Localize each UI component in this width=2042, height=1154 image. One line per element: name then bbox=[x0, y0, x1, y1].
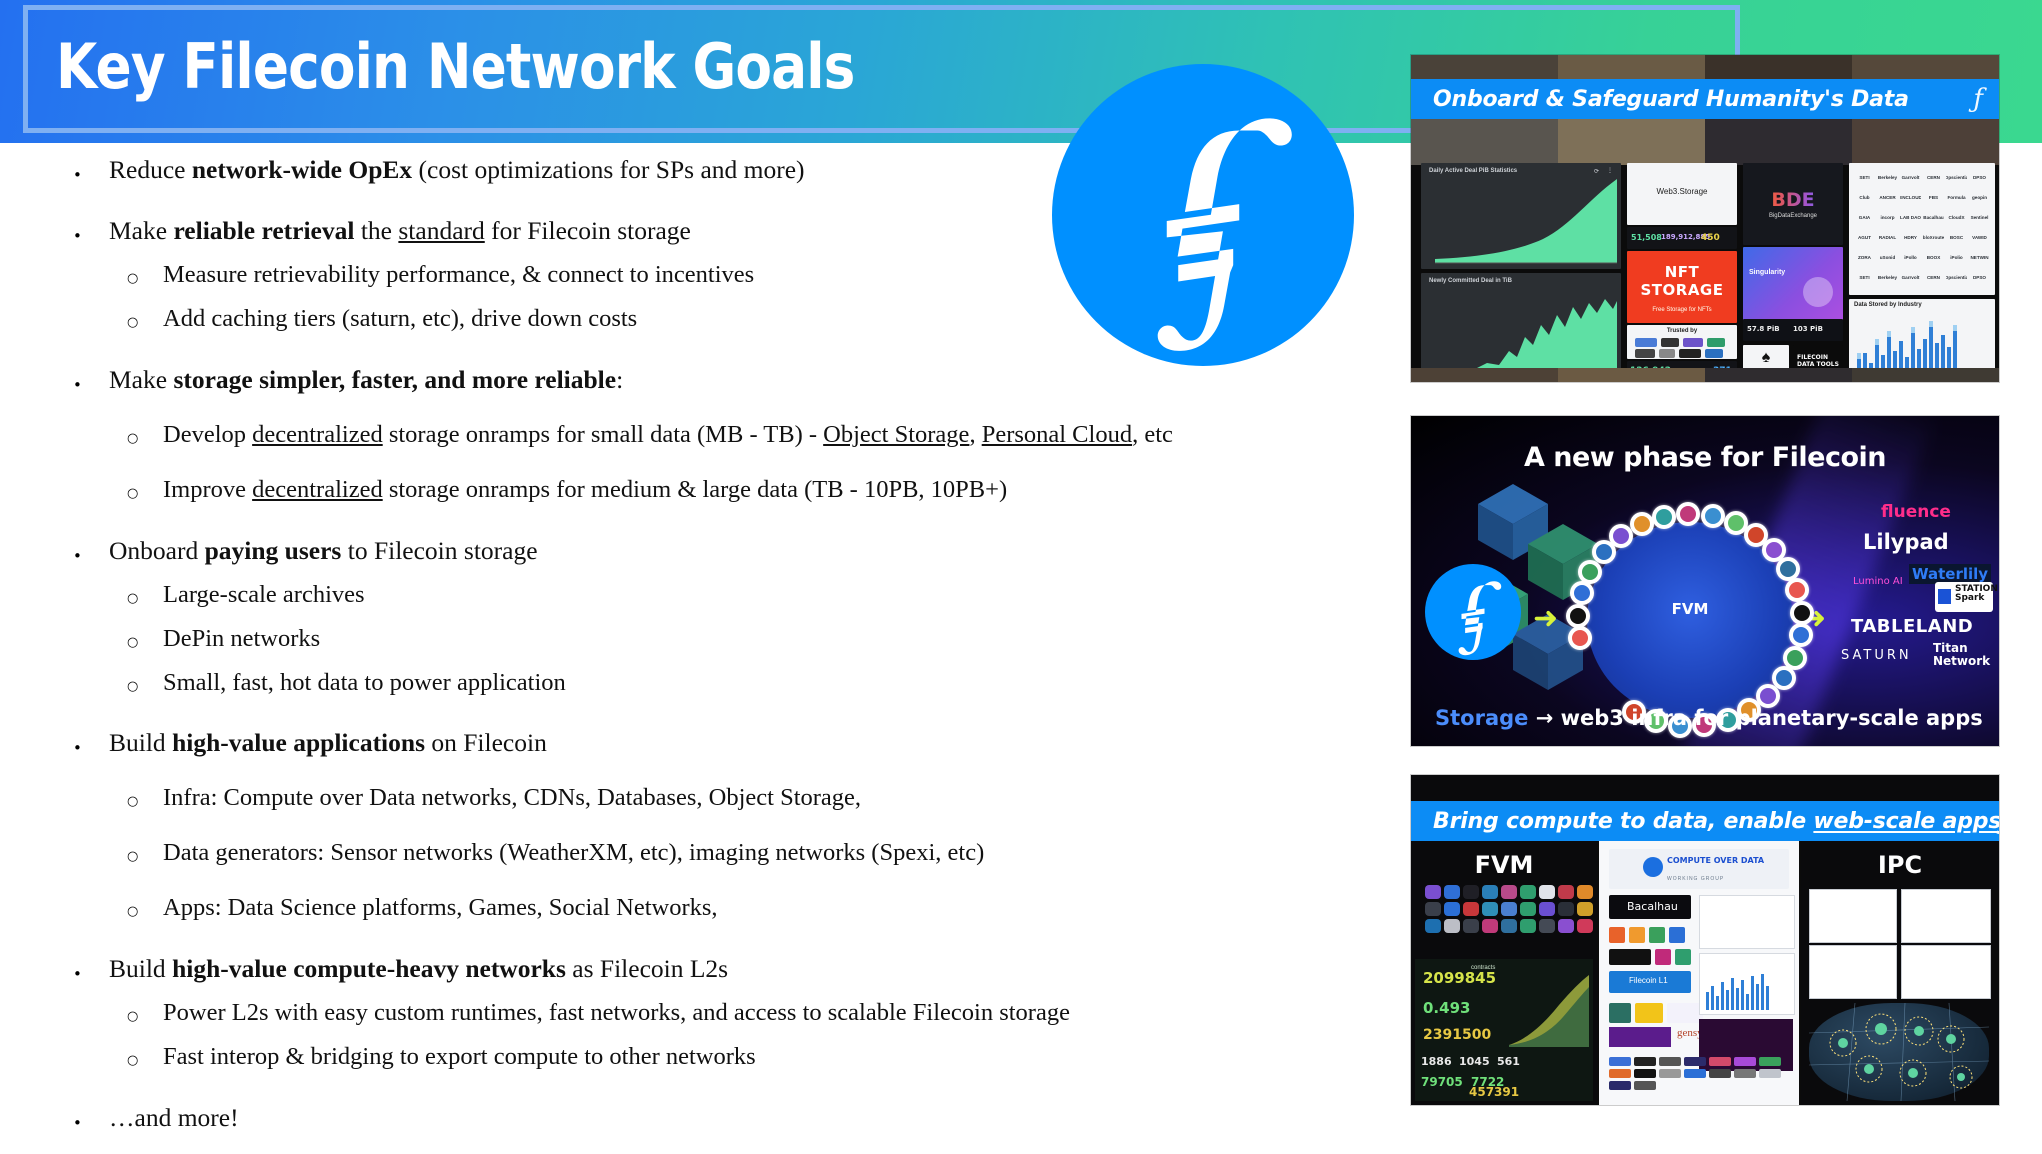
app-icon bbox=[1558, 885, 1574, 899]
spacer bbox=[0, 407, 1400, 418]
tile-label: NFT STORAGE bbox=[1627, 263, 1737, 299]
compute-column-fvm: FVM 2099845 0.493 2391500 1886 1045 561 … bbox=[1411, 841, 1597, 1105]
bullet-marker-filled-icon: • bbox=[73, 725, 109, 756]
app-icon bbox=[1463, 919, 1479, 933]
partner-logo: FBS bbox=[1923, 188, 1944, 206]
bullet-marker-filled-icon: • bbox=[73, 1100, 109, 1131]
cod-bar-chart bbox=[1699, 953, 1795, 1015]
page-title: Key Filecoin Network Goals bbox=[56, 30, 855, 103]
ipc-slide bbox=[1901, 945, 1991, 999]
logo-waterlily: Waterlily bbox=[1909, 564, 1991, 584]
bullet-item-l1: •Make storage simpler, faster, and more … bbox=[0, 362, 1400, 398]
ipc-slide bbox=[1809, 889, 1897, 943]
app-icon bbox=[1558, 919, 1574, 933]
tile-sublabel: BigDataExchange bbox=[1743, 213, 1843, 219]
bullet-marker-hollow-icon: ○ bbox=[127, 473, 163, 500]
kpi-value: 450 bbox=[1701, 233, 1720, 243]
stat-value: 79705 bbox=[1421, 1075, 1463, 1089]
l3-chips bbox=[1609, 949, 1691, 965]
bullet-marker-hollow-icon: ○ bbox=[127, 836, 163, 863]
logo-lumino-ai: Lumino AI bbox=[1853, 576, 1903, 587]
spacer bbox=[0, 770, 1400, 781]
bullet-item-l1: •Build high-value compute-heavy networks… bbox=[0, 951, 1400, 987]
ecosystem-node-icon bbox=[1566, 604, 1590, 628]
partner-logo: SETI bbox=[1854, 268, 1875, 286]
bullet-text: Large-scale archives bbox=[163, 578, 365, 613]
logo-row bbox=[1635, 349, 1723, 358]
logo-bacalhau: Bacalhau bbox=[1609, 895, 1691, 919]
compute-banner-text: Bring compute to data, enable web-scale … bbox=[1433, 809, 1999, 834]
bullet-item-l2: ○Add caching tiers (saturn, etc), drive … bbox=[0, 302, 1400, 337]
bullet-marker-hollow-icon: ○ bbox=[127, 996, 163, 1023]
spacer bbox=[0, 1084, 1400, 1100]
partner-logo: RADIAL bbox=[1877, 228, 1898, 246]
footer-lead: Storage bbox=[1435, 706, 1528, 730]
partner-logo: SETI bbox=[1854, 168, 1875, 186]
app-icon bbox=[1577, 885, 1593, 899]
tile-label: BDE bbox=[1743, 189, 1843, 211]
partner-logo: DPSO bbox=[1969, 168, 1990, 186]
spacer bbox=[0, 880, 1400, 891]
bullet-text: Reduce network-wide OpEx (cost optimizat… bbox=[109, 152, 805, 188]
partner-logo: geopin bbox=[1969, 188, 1990, 206]
ecosystem-node-icon bbox=[1568, 626, 1592, 650]
bullet-text: Onboard paying users to Filecoin storage bbox=[109, 533, 538, 569]
fvm-heading: FVM bbox=[1411, 851, 1597, 879]
photo-strip-bottom bbox=[1411, 368, 1999, 382]
bullet-text: Apps: Data Science platforms, Games, Soc… bbox=[163, 891, 718, 926]
partner-logo: BOOX bbox=[1923, 248, 1944, 266]
app-icon bbox=[1482, 902, 1498, 916]
partner-logo: uSonid bbox=[1877, 248, 1898, 266]
stat-value: 2099845 bbox=[1423, 969, 1496, 987]
app-icon bbox=[1501, 885, 1517, 899]
ecosystem-node-icon bbox=[1630, 512, 1654, 536]
app-icon bbox=[1539, 902, 1555, 916]
panel-bring-compute-to-data: Bring compute to data, enable web-scale … bbox=[1411, 775, 1999, 1105]
partner-logo: CERN bbox=[1923, 168, 1944, 186]
ipc-slide bbox=[1809, 945, 1897, 999]
partner-logo: Sentinel bbox=[1969, 208, 1990, 226]
tile-nft-storage: NFT STORAGE Free Storage for NFTs bbox=[1627, 251, 1737, 323]
cod-logo-box: COMPUTE OVER DATA WORKING GROUP bbox=[1609, 849, 1789, 889]
bullet-marker-hollow-icon: ○ bbox=[127, 258, 163, 285]
spacer bbox=[0, 825, 1400, 836]
app-icon bbox=[1520, 902, 1536, 916]
partner-logo-row bbox=[1609, 1057, 1789, 1090]
bullet-text: Power L2s with easy custom runtimes, fas… bbox=[163, 996, 1070, 1031]
tile-label: Trusted by bbox=[1627, 328, 1737, 334]
spacer bbox=[0, 935, 1400, 951]
compute-banner: Bring compute to data, enable web-scale … bbox=[1411, 801, 1999, 841]
bullet-marker-hollow-icon: ○ bbox=[127, 622, 163, 649]
bullet-text: DePin networks bbox=[163, 622, 320, 657]
app-icon bbox=[1425, 902, 1441, 916]
newphase-footer: Storage → web3 infra for planetary-scale… bbox=[1435, 706, 1983, 730]
app-icon bbox=[1520, 919, 1536, 933]
logo-lilypad: Lilypad bbox=[1863, 530, 1949, 554]
partner-logo: VAWID bbox=[1969, 228, 1990, 246]
tile-label: Web3.Storage bbox=[1627, 187, 1737, 196]
fvm-area-chart bbox=[1507, 967, 1591, 1049]
l2-chips bbox=[1609, 927, 1685, 943]
ipc-slide bbox=[1901, 889, 1991, 943]
bullet-text: Infra: Compute over Data networks, CDNs,… bbox=[163, 781, 861, 816]
partner-logo: Berkeley bbox=[1877, 168, 1898, 186]
partner-logo: bloXroute bbox=[1923, 228, 1944, 246]
bullet-text: Fast interop & bridging to export comput… bbox=[163, 1040, 756, 1075]
onboard-banner-text: Onboard & Safeguard Humanity's Data bbox=[1433, 87, 1909, 112]
logo-tableland: TABLELAND bbox=[1851, 616, 1973, 637]
tile-web3-storage: Web3.Storage bbox=[1627, 163, 1737, 225]
app-icon bbox=[1482, 919, 1498, 933]
bullet-item-l2: ○Power L2s with easy custom runtimes, fa… bbox=[0, 996, 1400, 1031]
bullet-text: …and more! bbox=[109, 1100, 239, 1136]
bullet-text: Develop decentralized storage onramps fo… bbox=[163, 418, 1173, 453]
app-icon bbox=[1577, 919, 1593, 933]
bullet-marker-hollow-icon: ○ bbox=[127, 578, 163, 605]
bullet-item-l2: ○DePin networks bbox=[0, 622, 1400, 657]
bullet-marker-hollow-icon: ○ bbox=[127, 302, 163, 329]
fvm-app-grid bbox=[1425, 885, 1593, 933]
bullet-marker-hollow-icon: ○ bbox=[127, 418, 163, 445]
bullet-text: Improve decentralized storage onramps fo… bbox=[163, 473, 1007, 508]
partner-logo: CloudX bbox=[1946, 208, 1967, 226]
tile-newly-committed-deal: Newly Committed Deal in TiB bbox=[1421, 273, 1621, 379]
bullet-marker-hollow-icon: ○ bbox=[127, 666, 163, 693]
partner-logo: iPollo bbox=[1900, 248, 1921, 266]
tile-singularity-kpis: 57.8 PiB 103 PiB bbox=[1743, 319, 1843, 341]
bullet-item-l1: •…and more! bbox=[0, 1100, 1400, 1136]
spacer bbox=[0, 517, 1400, 533]
bullet-item-l2: ○Large-scale archives bbox=[0, 578, 1400, 613]
bullet-text: Small, fast, hot data to power applicati… bbox=[163, 666, 566, 701]
arrow-right-icon: ➜ bbox=[1533, 604, 1558, 634]
bullet-item-l1: •Make reliable retrieval the standard fo… bbox=[0, 213, 1400, 249]
stat-value: 1886 bbox=[1421, 1055, 1452, 1068]
footer-rest: → web3 infra for planetary-scale apps bbox=[1536, 706, 1983, 730]
bullet-marker-filled-icon: • bbox=[73, 152, 109, 183]
ipc-subnet-globe bbox=[1809, 1003, 1989, 1101]
spacer bbox=[0, 709, 1400, 725]
tile-label: FILECOIN DATA TOOLS bbox=[1797, 355, 1843, 369]
app-icon bbox=[1539, 885, 1555, 899]
bullet-text: Build high-value compute-heavy networks … bbox=[109, 951, 728, 987]
app-icon bbox=[1501, 919, 1517, 933]
partner-logo: DPSO bbox=[1969, 268, 1990, 286]
partner-logo: GAIA bbox=[1854, 208, 1875, 226]
partner-logo: ZORA bbox=[1854, 248, 1875, 266]
partner-logo: CERN bbox=[1923, 268, 1944, 286]
cod-heading: COMPUTE OVER DATA bbox=[1667, 857, 1764, 866]
partner-logo: AGUT bbox=[1854, 228, 1875, 246]
photo-strip-mid bbox=[1411, 119, 1999, 165]
tile-nft-trusted-by: Trusted by bbox=[1627, 325, 1737, 359]
bullet-item-l2: ○Improve decentralized storage onramps f… bbox=[0, 473, 1400, 508]
photo-strip-top bbox=[1411, 55, 1999, 79]
bullet-text: Add caching tiers (saturn, etc), drive d… bbox=[163, 302, 637, 337]
kpi-value: 57.8 PiB bbox=[1747, 325, 1780, 333]
ecosystem-node-icon bbox=[1570, 581, 1594, 605]
bullet-list: •Reduce network-wide OpEx (cost optimiza… bbox=[0, 152, 1400, 1145]
ecosystem-node-icon bbox=[1790, 601, 1814, 625]
app-icon bbox=[1558, 902, 1574, 916]
logo-row-2ama bbox=[1609, 1003, 1703, 1023]
app-icon bbox=[1539, 919, 1555, 933]
partner-logo: BOSC bbox=[1946, 228, 1967, 246]
subnet-graph bbox=[1809, 1003, 1989, 1101]
partner-logo: Berkeley bbox=[1877, 268, 1898, 286]
tile-daily-active-deal: Daily Active Deal PiB Statistics ⟳ ⋮ bbox=[1421, 163, 1621, 269]
partner-logo: Opscientia bbox=[1946, 168, 1967, 186]
tile-label: Data Stored by Industry bbox=[1854, 302, 1922, 308]
bullet-marker-filled-icon: • bbox=[73, 213, 109, 244]
partner-logo: Garrvolt bbox=[1900, 268, 1921, 286]
bullet-item-l2: ○Fast interop & bridging to export compu… bbox=[0, 1040, 1400, 1075]
filecoin-glyph-icon: ƒ bbox=[1973, 86, 1983, 112]
sparkline-chart bbox=[1421, 273, 1621, 379]
partner-logo: NETWIN bbox=[1969, 248, 1990, 266]
bullet-text: Measure retrievability performance, & co… bbox=[163, 258, 754, 293]
partner-logo: Bacalhau bbox=[1923, 208, 1944, 226]
logo-expanso bbox=[1609, 1027, 1671, 1047]
app-icon bbox=[1501, 902, 1517, 916]
partner-logo: Garrvolt bbox=[1900, 168, 1921, 186]
bullet-item-l1: •Onboard paying users to Filecoin storag… bbox=[0, 533, 1400, 569]
logo-filecoin-l1: Filecoin L1 bbox=[1609, 971, 1691, 993]
bullet-item-l1: •Reduce network-wide OpEx (cost optimiza… bbox=[0, 152, 1400, 188]
tile-web3-kpis: 51,508 189,912,885 450 bbox=[1627, 227, 1737, 249]
app-icon bbox=[1577, 902, 1593, 916]
stat-value: 561 bbox=[1497, 1055, 1520, 1068]
app-icon bbox=[1463, 885, 1479, 899]
app-icon bbox=[1482, 885, 1498, 899]
tile-label: Singularity bbox=[1749, 269, 1785, 276]
partner-logo: Opscientia bbox=[1946, 268, 1967, 286]
logo-fluence: fluence bbox=[1881, 502, 1951, 522]
partner-logo-grid: SETIBerkeleyGarrvoltCERNOpscientiaDPSOCl… bbox=[1854, 168, 1990, 290]
bullet-text: Data generators: Sensor networks (Weathe… bbox=[163, 836, 984, 871]
logo-saturn: SATURN bbox=[1841, 648, 1912, 663]
cod-sub: WORKING GROUP bbox=[1667, 876, 1724, 882]
app-icon bbox=[1425, 885, 1441, 899]
app-icon bbox=[1463, 902, 1479, 916]
partner-logo: ENCLOUD bbox=[1900, 188, 1921, 206]
compute-column-ipc: IPC bbox=[1801, 841, 1999, 1105]
onboard-banner: Onboard & Safeguard Humanity's Data ƒ bbox=[1411, 79, 1999, 119]
stat-value: 0.493 bbox=[1423, 999, 1470, 1017]
tile-partner-logos: SETIBerkeleyGarrvoltCERNOpscientiaDPSOCl… bbox=[1849, 163, 1995, 295]
spacer bbox=[0, 462, 1400, 473]
partner-logo: iPolio bbox=[1946, 248, 1967, 266]
partner-logo: ANCER bbox=[1877, 188, 1898, 206]
stat-value: 2391500 bbox=[1423, 1027, 1491, 1043]
app-icon bbox=[1444, 919, 1460, 933]
partner-logo: Formula bbox=[1946, 188, 1967, 206]
bullet-marker-filled-icon: • bbox=[73, 951, 109, 982]
filecoin-circle-icon bbox=[1425, 564, 1521, 660]
bullet-text: Make reliable retrieval the standard for… bbox=[109, 213, 691, 249]
partner-logo: LAB DAO bbox=[1900, 208, 1921, 226]
tile-big-data-exchange: BDE BigDataExchange bbox=[1743, 163, 1843, 245]
cod-architecture-diagram bbox=[1699, 895, 1795, 949]
kpi-value: 103 PiB bbox=[1793, 325, 1823, 333]
partner-logo: HDRY bbox=[1900, 228, 1921, 246]
bullet-text: Make storage simpler, faster, and more r… bbox=[109, 362, 623, 398]
app-icon bbox=[1425, 919, 1441, 933]
banner-underline: web-scale apps bbox=[1813, 809, 1999, 834]
panel-onboard-safeguard: Onboard & Safeguard Humanity's Data ƒ Da… bbox=[1411, 55, 1999, 382]
banner-lead: Bring compute to data, enable bbox=[1433, 809, 1813, 834]
ipc-heading: IPC bbox=[1801, 851, 1999, 879]
bullet-text: Build high-value applications on Filecoi… bbox=[109, 725, 547, 761]
app-icon bbox=[1444, 902, 1460, 916]
app-icon bbox=[1520, 885, 1536, 899]
ecosystem-node-icon bbox=[1701, 504, 1725, 528]
partner-logo: Club bbox=[1854, 188, 1875, 206]
bullet-item-l1: •Build high-value applications on Fileco… bbox=[0, 725, 1400, 761]
spacer bbox=[0, 346, 1400, 362]
chart-label: contracts bbox=[1471, 965, 1529, 971]
bullet-marker-filled-icon: • bbox=[73, 533, 109, 564]
fvm-label: FVM bbox=[1587, 600, 1793, 618]
bullet-item-l2: ○Data generators: Sensor networks (Weath… bbox=[0, 836, 1400, 871]
sparkline-chart bbox=[1421, 163, 1621, 269]
logo-row bbox=[1635, 338, 1725, 347]
bullet-item-l2: ○Apps: Data Science platforms, Games, So… bbox=[0, 891, 1400, 926]
bullet-item-l2: ○Infra: Compute over Data networks, CDNs… bbox=[0, 781, 1400, 816]
bullet-item-l2: ○Develop decentralized storage onramps f… bbox=[0, 418, 1400, 453]
app-icon bbox=[1444, 885, 1460, 899]
kpi-value: 51,508 bbox=[1631, 233, 1662, 242]
logo-station-spark: STATION Spark bbox=[1935, 582, 1993, 612]
bullet-item-l2: ○Small, fast, hot data to power applicat… bbox=[0, 666, 1400, 701]
bullet-marker-filled-icon: • bbox=[73, 362, 109, 393]
bullet-item-l2: ○Measure retrievability performance, & c… bbox=[0, 258, 1400, 293]
stat-value: 457391 bbox=[1469, 1085, 1519, 1099]
logo-titan-network: Titan Network bbox=[1933, 642, 1999, 667]
spacer bbox=[0, 197, 1400, 213]
panel-new-phase-for-filecoin: A new phase for Filecoin ➜ ➜ FVM fluence… bbox=[1411, 416, 1999, 746]
stat-value: 1045 bbox=[1459, 1055, 1490, 1068]
bullet-marker-hollow-icon: ○ bbox=[127, 891, 163, 918]
tile-sublabel: Free Storage for NFTs bbox=[1627, 307, 1737, 313]
partner-logo: incorp bbox=[1877, 208, 1898, 226]
bullet-marker-hollow-icon: ○ bbox=[127, 781, 163, 808]
compute-column-cod: COMPUTE OVER DATA WORKING GROUP Bacalhau… bbox=[1599, 841, 1799, 1105]
bullet-marker-hollow-icon: ○ bbox=[127, 1040, 163, 1067]
